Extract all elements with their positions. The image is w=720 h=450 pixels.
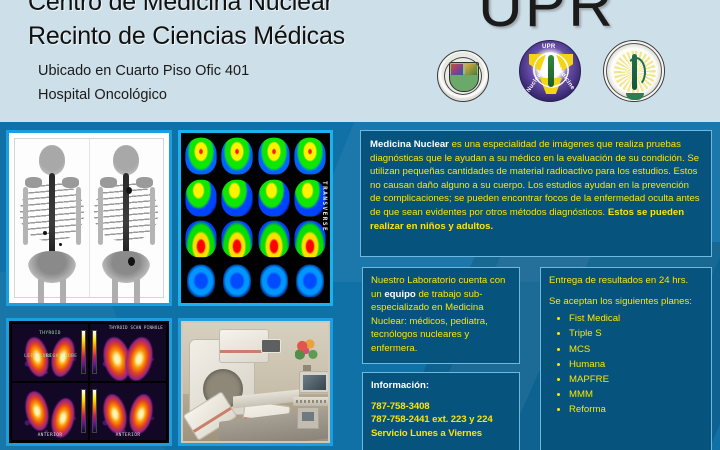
thyroid-scan-panel: THYROID LEFT LOBE RIGHT LOBE THYROID SCA… bbox=[6, 318, 172, 446]
intro-bold-lead: Medicina Nuclear bbox=[370, 139, 449, 150]
bone-scan-posterior bbox=[90, 139, 164, 297]
service-hours: Servicio Lunes a Viernes bbox=[371, 427, 511, 441]
page-title: Centro de Medicina Nuclear bbox=[28, 0, 333, 17]
seal-ring bbox=[438, 51, 488, 101]
phone-number-1[interactable]: 787-758-3408 bbox=[371, 400, 511, 414]
thyroid-scan-header: THYROID SCAN PINHOLE bbox=[109, 325, 163, 330]
equipment-cabinet bbox=[297, 407, 319, 429]
poster-header: Centro de Medicina Nuclear Recinto de Ci… bbox=[0, 0, 720, 122]
list-item: Reforma bbox=[549, 402, 703, 417]
poster-body: TRANSVERSE THYROID LEFT LOBE RIGHT LOBE … bbox=[0, 122, 720, 450]
thyroid-cell-4: ANTERIOR bbox=[90, 383, 166, 440]
flower-bouquet-icon bbox=[295, 339, 319, 367]
workstation bbox=[293, 371, 328, 415]
insurance-plans-box: Entrega de resultados en 24 hrs. Se acep… bbox=[540, 267, 712, 450]
ceiling-monitor-icon bbox=[261, 339, 281, 353]
laboratory-text-box: Nuestro Laboratorio cuenta con un equipo… bbox=[362, 267, 520, 364]
thyroid-scan-image: THYROID LEFT LOBE RIGHT LOBE THYROID SCA… bbox=[12, 324, 166, 440]
thyroid-label-anterior-2: ANTERIOR bbox=[116, 433, 141, 438]
information-heading: Información: bbox=[371, 379, 511, 393]
list-item: Humana bbox=[549, 357, 703, 372]
accepted-plans-lead: Se aceptan los siguientes planes: bbox=[549, 295, 703, 309]
brain-pet-panel: TRANSVERSE bbox=[178, 130, 333, 306]
list-item: MCS bbox=[549, 342, 703, 357]
escuela-de-medicina-logo bbox=[603, 40, 665, 102]
gamma-camera-image bbox=[183, 323, 328, 441]
control-console bbox=[293, 397, 328, 406]
page-subtitle: Recinto de Ciencias Médicas bbox=[28, 22, 345, 51]
phone-number-2[interactable]: 787-758-2441 ext. 223 y 224 bbox=[371, 413, 511, 427]
list-item: Fist Medical bbox=[549, 311, 703, 326]
information-box: Información: 787-758-3408 787-758-2441 e… bbox=[362, 372, 520, 450]
thyroid-cell-1: THYROID LEFT LOBE RIGHT LOBE bbox=[12, 324, 88, 381]
medicina-banner bbox=[626, 93, 644, 100]
bone-scan-panel bbox=[6, 130, 172, 306]
nm-logo-label-top: UPR bbox=[542, 44, 556, 50]
insurance-plans-list: Fist Medical Triple S MCS Humana MAPFRE … bbox=[549, 311, 703, 417]
brain-pet-image bbox=[184, 136, 327, 300]
lab-bold-word: equipo bbox=[384, 289, 415, 300]
transverse-orientation-label: TRANSVERSE bbox=[321, 181, 328, 232]
monitor-icon bbox=[299, 371, 328, 393]
upr-nuclear-medicine-logo: UPR Nuclear Medicine bbox=[519, 40, 581, 102]
medicina-ring bbox=[606, 43, 662, 99]
upr-wordmark: UPR bbox=[478, 0, 615, 41]
caduceus-figure-icon bbox=[548, 55, 554, 87]
upr-seal-logo bbox=[437, 50, 489, 102]
address-line-2: Hospital Oncológico bbox=[38, 87, 167, 103]
list-item: MMM bbox=[549, 387, 703, 402]
list-item: MAPFRE bbox=[549, 372, 703, 387]
thyroid-cell-3: ANTERIOR bbox=[12, 383, 88, 440]
intro-text-box: Medicina Nuclear es una especialidad de … bbox=[360, 130, 712, 257]
poster-root: Centro de Medicina Nuclear Recinto de Ci… bbox=[0, 0, 720, 450]
thyroid-label-right: RIGHT LOBE bbox=[46, 354, 77, 359]
bone-scan-image bbox=[14, 138, 164, 298]
thyroid-label-top: THYROID bbox=[39, 331, 61, 336]
thyroid-cell-2: THYROID SCAN PINHOLE bbox=[90, 324, 166, 381]
gamma-camera-photo-panel bbox=[178, 318, 333, 446]
list-item: Triple S bbox=[549, 326, 703, 341]
thyroid-label-anterior-1: ANTERIOR bbox=[38, 433, 63, 438]
bone-scan-anterior bbox=[15, 139, 90, 297]
address-line-1: Ubicado en Cuarto Piso Ofic 401 bbox=[38, 63, 249, 79]
results-delivery-text: Entrega de resultados en 24 hrs. bbox=[549, 274, 703, 288]
